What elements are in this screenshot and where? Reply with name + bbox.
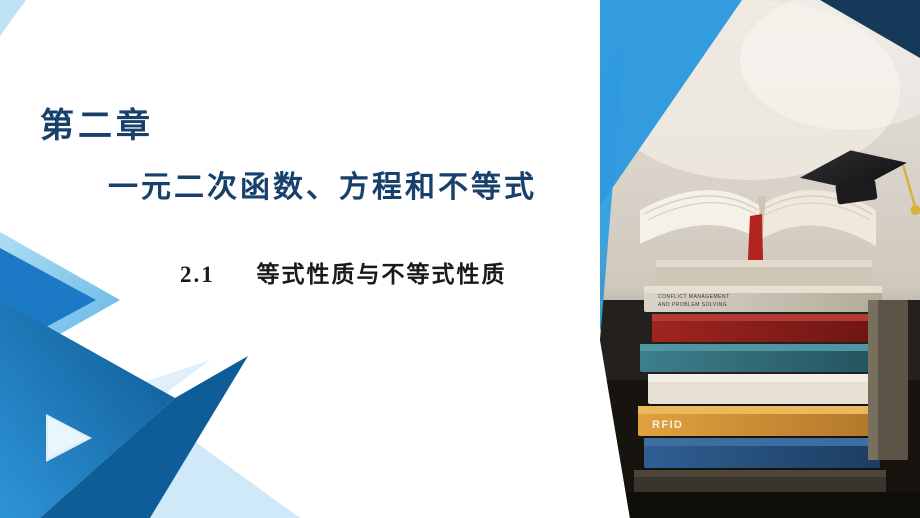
photo-caption-conflict: CONFLICT MANAGEMENT: [658, 294, 730, 300]
slide-canvas: RFID CONFLICT MANAGEMENT AND PROBLEM SOL…: [0, 0, 920, 518]
books-photo: RFID CONFLICT MANAGEMENT AND PROBLEM SOL…: [600, 0, 920, 518]
chapter-title: 一元二次函数、方程和不等式: [108, 162, 537, 206]
photo-caption-rfid: RFID: [652, 419, 683, 431]
section-number: 2.1: [180, 262, 215, 287]
section-name: 等式性质与不等式性质: [257, 262, 507, 287]
section-title: 2.1 等式性质与不等式性质: [180, 255, 507, 289]
photo-caption-conflict2: AND PROBLEM SOLVING: [658, 302, 727, 308]
chapter-label: 第二章: [40, 98, 154, 147]
